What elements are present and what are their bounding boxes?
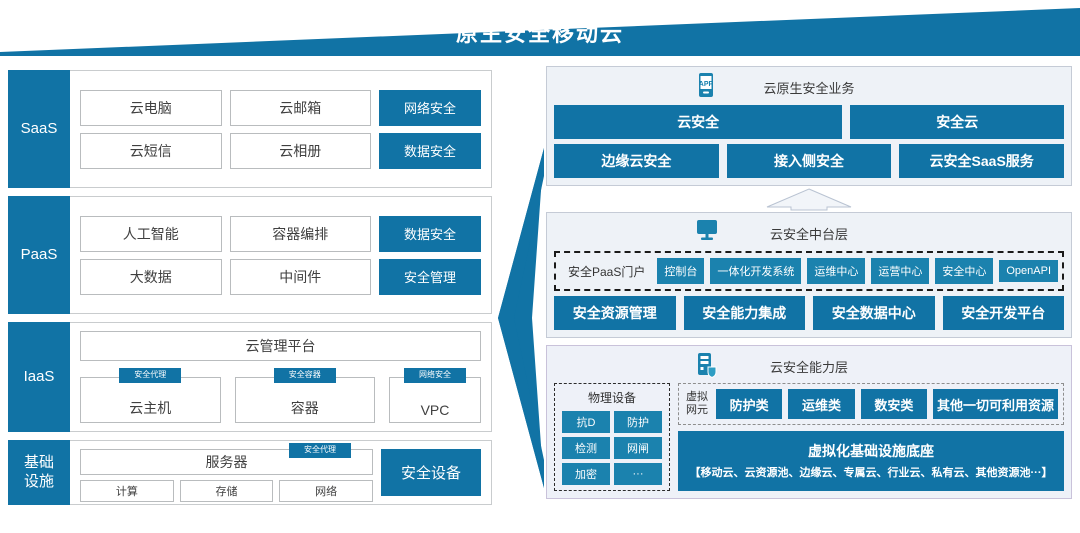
portal-item-console[interactable]: 控制台 xyxy=(657,258,704,284)
midplatform-tile-security-data-center[interactable]: 安全数据中心 xyxy=(813,296,935,330)
physical-devices-group: 物理设备 抗D 防护 检测 网闸 加密 ··· xyxy=(554,383,670,491)
layer-infrastructure: 基础 设施 服务器 安全代理 计算 存储 网络 安全设备 xyxy=(8,440,492,505)
paas-badge-data-security[interactable]: 数据安全 xyxy=(379,216,481,252)
business-row-2: 边缘云安全 接入侧安全 云安全SaaS服务 xyxy=(554,144,1064,178)
portal-item-operations-center[interactable]: 运营中心 xyxy=(871,258,929,284)
paas-row-2: 大数据 中间件 安全管理 xyxy=(80,259,481,295)
business-tile-access-side-security[interactable]: 接入侧安全 xyxy=(727,144,892,178)
virtual-network-element-group: 虚拟 网元 防护类 运维类 数安类 其他一切可利用资源 xyxy=(678,383,1064,425)
vnet-label-line-2: 网元 xyxy=(686,404,708,416)
iaas-chip-security-container: 安全容器 xyxy=(274,368,336,383)
diagram-root: 原生安全移动云 SaaS 云电脑 云邮箱 网络安全 云短信 云相册 数据安全 P… xyxy=(0,0,1080,533)
infra-mini-compute[interactable]: 计算 xyxy=(80,480,174,502)
infra-badge-security-device[interactable]: 安全设备 xyxy=(381,449,481,496)
infra-server-wrap: 服务器 安全代理 xyxy=(80,449,373,475)
saas-row-1: 云电脑 云邮箱 网络安全 xyxy=(80,90,481,126)
midplatform-tile-security-capability-integration[interactable]: 安全能力集成 xyxy=(684,296,806,330)
capability-title: 云安全能力层 xyxy=(770,357,848,376)
paas-row-1: 人工智能 容器编排 数据安全 xyxy=(80,216,481,252)
infra-mini-network[interactable]: 网络 xyxy=(279,480,373,502)
capability-body: 物理设备 抗D 防护 检测 网闸 加密 ··· 虚拟 网元 xyxy=(554,383,1064,491)
iaas-label-container: 容器 xyxy=(235,377,376,423)
physical-device-encryption[interactable]: 加密 xyxy=(562,463,610,485)
business-head: APP 云原生安全业务 xyxy=(554,74,1064,100)
iaas-label-vpc: VPC xyxy=(389,377,481,423)
physical-device-gateway[interactable]: 网闸 xyxy=(614,437,662,459)
layer-tag-paas: PaaS xyxy=(8,196,70,314)
portal-item-integrated-dev-system[interactable]: 一体化开发系统 xyxy=(710,258,801,284)
panel-cloud-security-midplatform: 云安全中台层 安全PaaS门户 控制台 一体化开发系统 运维中心 运营中心 安全… xyxy=(546,212,1072,338)
midplatform-tiles: 安全资源管理 安全能力集成 安全数据中心 安全开发平台 xyxy=(554,296,1064,330)
saas-cell-cloud-pc[interactable]: 云电脑 xyxy=(80,90,222,126)
business-tile-security-cloud[interactable]: 安全云 xyxy=(850,105,1064,139)
layer-tag-saas: SaaS xyxy=(8,70,70,188)
physical-devices-title: 物理设备 xyxy=(562,389,662,406)
physical-device-more[interactable]: ··· xyxy=(614,463,662,485)
physical-device-protection[interactable]: 防护 xyxy=(614,411,662,433)
panel-cloud-security-capability: 云安全能力层 物理设备 抗D 防护 检测 网闸 加密 ··· xyxy=(546,345,1072,499)
infra-mini-storage[interactable]: 存储 xyxy=(180,480,274,502)
physical-device-detection[interactable]: 检测 xyxy=(562,437,610,459)
base-title: 虚拟化基础设施底座 xyxy=(808,441,934,461)
iaas-label-cloud-host: 云主机 xyxy=(80,377,221,423)
paas-badge-security-management[interactable]: 安全管理 xyxy=(379,259,481,295)
iaas-cloud-management-platform[interactable]: 云管理平台 xyxy=(80,331,481,361)
base-subtitle: 【移动云、云资源池、边缘云、专属云、行业云、私有云、其他资源池···】 xyxy=(690,464,1053,480)
security-paas-portal-group: 安全PaaS门户 控制台 一体化开发系统 运维中心 运营中心 安全中心 Open… xyxy=(554,251,1064,291)
infra-mini-row: 计算 存储 网络 xyxy=(80,480,373,502)
saas-badge-network-security[interactable]: 网络安全 xyxy=(379,90,481,126)
right-stack: APP 云原生安全业务 云安全 安全云 边缘云安全 接入侧安全 云安全SaaS服… xyxy=(546,66,1072,499)
physical-device-anti-ddos[interactable]: 抗D xyxy=(562,411,610,433)
portal-label: 安全PaaS门户 xyxy=(562,263,651,280)
iaas-item-cloud-host[interactable]: 安全代理 云主机 xyxy=(80,368,221,423)
vnet-item-other-resources[interactable]: 其他一切可利用资源 xyxy=(933,389,1058,419)
paas-cell-container-orchestration[interactable]: 容器编排 xyxy=(230,216,372,252)
portal-item-openapi[interactable]: OpenAPI xyxy=(999,260,1058,282)
midplatform-tile-security-dev-platform[interactable]: 安全开发平台 xyxy=(943,296,1065,330)
physical-devices-grid: 抗D 防护 检测 网闸 加密 ··· xyxy=(562,411,662,485)
page-title: 原生安全移动云 xyxy=(0,8,1080,56)
portal-item-ops-center[interactable]: 运维中心 xyxy=(807,258,865,284)
iaas-chip-security-agent: 安全代理 xyxy=(119,368,181,383)
layer-iaas: IaaS 云管理平台 安全代理 云主机 安全容器 容器 网络安全 VPC xyxy=(8,322,492,432)
infra-chip-security-agent: 安全代理 xyxy=(289,443,351,458)
midplatform-head: 云安全中台层 xyxy=(554,220,1064,246)
saas-cell-cloud-album[interactable]: 云相册 xyxy=(230,133,372,169)
app-phone-icon: APP xyxy=(694,72,718,103)
layer-body-infrastructure: 服务器 安全代理 计算 存储 网络 安全设备 xyxy=(70,440,492,505)
panel-cloud-native-security-business: APP 云原生安全业务 云安全 安全云 边缘云安全 接入侧安全 云安全SaaS服… xyxy=(546,66,1072,186)
business-tile-cloud-security[interactable]: 云安全 xyxy=(554,105,842,139)
flow-arrow-up-icon xyxy=(546,186,1072,212)
iaas-item-container[interactable]: 安全容器 容器 xyxy=(235,368,376,423)
iaas-chip-network-security: 网络安全 xyxy=(404,368,466,383)
saas-cell-cloud-sms[interactable]: 云短信 xyxy=(80,133,222,169)
layer-tag-infrastructure: 基础 设施 xyxy=(8,440,70,505)
iaas-item-vpc[interactable]: 网络安全 VPC xyxy=(389,368,481,423)
capability-right-group: 虚拟 网元 防护类 运维类 数安类 其他一切可利用资源 虚拟化基础设施底座 【移… xyxy=(678,383,1064,491)
saas-badge-data-security[interactable]: 数据安全 xyxy=(379,133,481,169)
business-tile-edge-cloud-security[interactable]: 边缘云安全 xyxy=(554,144,719,178)
iaas-resource-row: 安全代理 云主机 安全容器 容器 网络安全 VPC xyxy=(80,368,481,423)
layer-tag-iaas: IaaS xyxy=(8,322,70,432)
server-shield-icon xyxy=(694,351,720,384)
virtualization-infrastructure-base[interactable]: 虚拟化基础设施底座 【移动云、云资源池、边缘云、专属云、行业云、私有云、其他资源… xyxy=(678,431,1064,491)
paas-cell-bigdata[interactable]: 大数据 xyxy=(80,259,222,295)
left-stack: SaaS 云电脑 云邮箱 网络安全 云短信 云相册 数据安全 PaaS 人工智能 xyxy=(8,70,492,527)
business-row-1: 云安全 安全云 xyxy=(554,105,1064,139)
svg-text:APP: APP xyxy=(699,81,714,88)
infra-left-group: 服务器 安全代理 计算 存储 网络 xyxy=(80,449,373,496)
flow-arrow-left-icon xyxy=(492,68,548,533)
layer-body-paas: 人工智能 容器编排 数据安全 大数据 中间件 安全管理 xyxy=(70,196,492,314)
layer-body-saas: 云电脑 云邮箱 网络安全 云短信 云相册 数据安全 xyxy=(70,70,492,188)
vnet-label-line-1: 虚拟 xyxy=(686,391,708,403)
infra-tag-line-2: 设施 xyxy=(24,473,54,490)
capability-head: 云安全能力层 xyxy=(554,353,1064,379)
midplatform-title: 云安全中台层 xyxy=(770,224,848,243)
layer-body-iaas: 云管理平台 安全代理 云主机 安全容器 容器 网络安全 VPC xyxy=(70,322,492,432)
vnet-label: 虚拟 网元 xyxy=(684,391,710,416)
vnet-item-protection-type[interactable]: 防护类 xyxy=(716,389,782,419)
portal-item-security-center[interactable]: 安全中心 xyxy=(935,258,993,284)
business-tile-cloud-security-saas-service[interactable]: 云安全SaaS服务 xyxy=(899,144,1064,178)
business-title: 云原生安全业务 xyxy=(763,78,854,97)
vnet-item-ops-type[interactable]: 运维类 xyxy=(788,389,854,419)
monitor-icon xyxy=(694,218,720,247)
layer-paas: PaaS 人工智能 容器编排 数据安全 大数据 中间件 安全管理 xyxy=(8,196,492,314)
infra-tag-line-1: 基础 xyxy=(24,454,54,471)
layer-saas: SaaS 云电脑 云邮箱 网络安全 云短信 云相册 数据安全 xyxy=(8,70,492,188)
paas-cell-middleware[interactable]: 中间件 xyxy=(230,259,372,295)
vnet-item-data-security-type[interactable]: 数安类 xyxy=(861,389,927,419)
paas-cell-ai[interactable]: 人工智能 xyxy=(80,216,222,252)
saas-cell-cloud-mail[interactable]: 云邮箱 xyxy=(230,90,372,126)
midplatform-tile-security-resource-management[interactable]: 安全资源管理 xyxy=(554,296,676,330)
saas-row-2: 云短信 云相册 数据安全 xyxy=(80,133,481,169)
